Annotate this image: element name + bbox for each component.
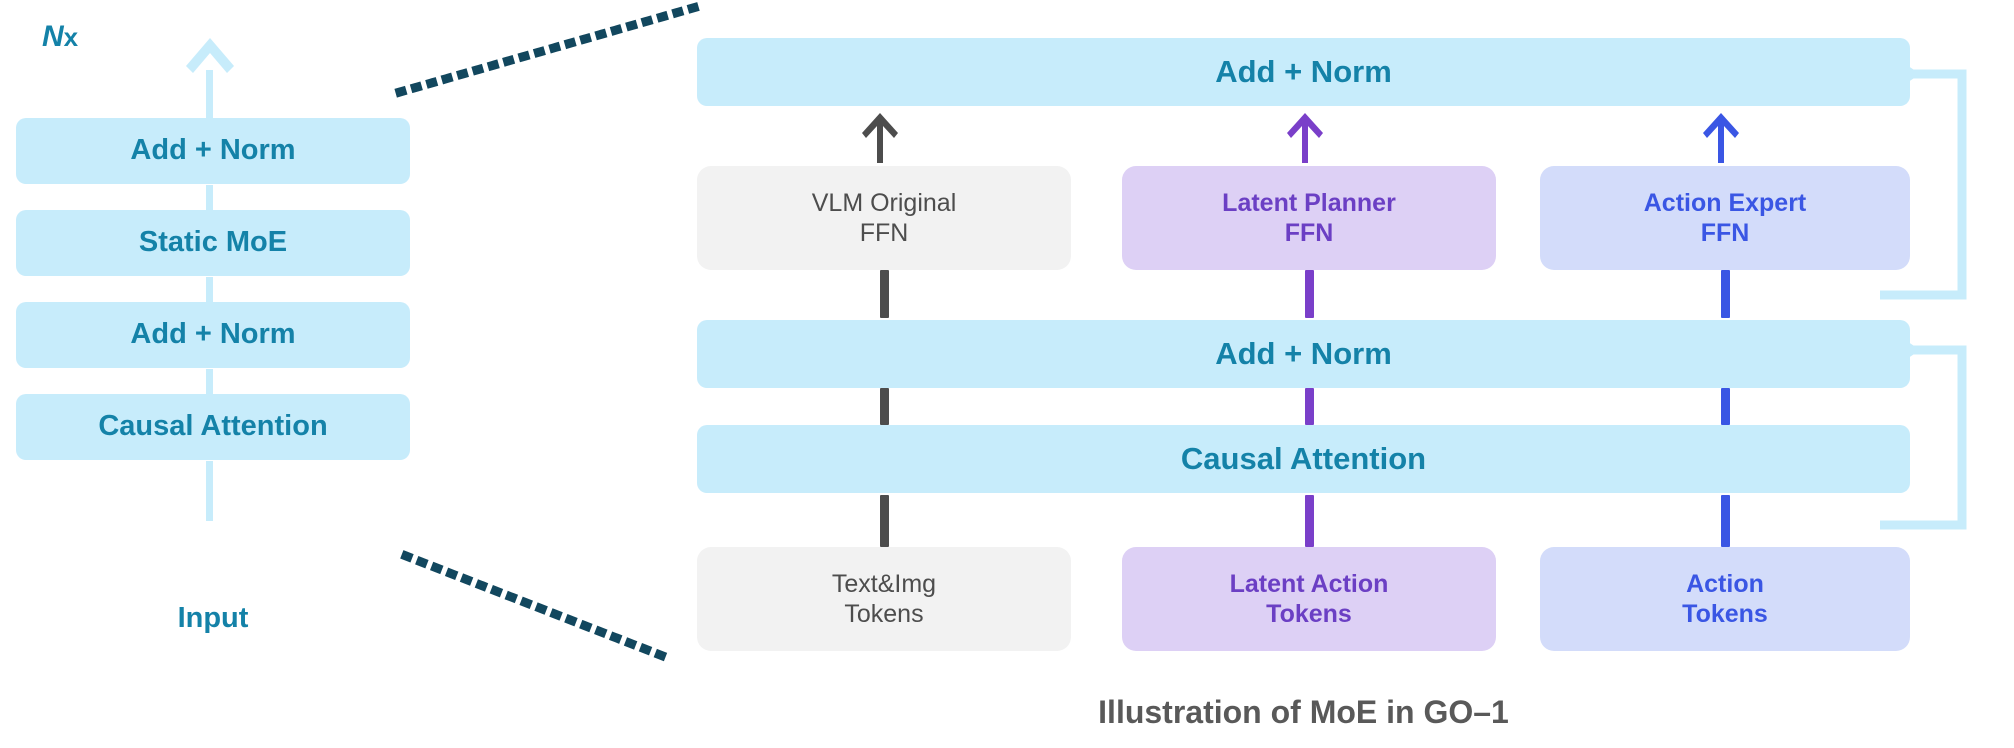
tokens-action[interactable]: Action Tokens [1540, 547, 1910, 651]
right-add-norm-top[interactable]: Add + Norm [697, 38, 1910, 106]
diagram-canvas: Nx Add + Norm Static MoE Add + Norm Caus… [0, 0, 2014, 748]
ffn-vlm-original[interactable]: VLM Original FFN [697, 166, 1071, 270]
vline-vlm-ffn-to-addnorm [880, 270, 889, 318]
vline-latent-tokens-to-attention [1305, 495, 1314, 547]
vline-vlm-addnorm-to-attention [880, 388, 889, 425]
tokens-text-img[interactable]: Text&Img Tokens [697, 547, 1071, 651]
vline-latent-ffn-to-addnorm [1305, 270, 1314, 318]
ffn-latent-planner[interactable]: Latent Planner FFN [1122, 166, 1496, 270]
vline-vlm-tokens-to-attention [880, 495, 889, 547]
right-add-norm-middle[interactable]: Add + Norm [697, 320, 1910, 388]
right-causal-attention[interactable]: Causal Attention [697, 425, 1910, 493]
arrow-vlm-ffn-to-top-addnorm [861, 113, 899, 163]
vline-latent-addnorm-to-attention [1305, 388, 1314, 425]
right-moe-detail-panel: Add + Norm VLM Original FFN Latent Plann… [0, 0, 2014, 748]
vline-action-addnorm-to-attention [1721, 388, 1730, 425]
arrow-action-ffn-to-top-addnorm [1702, 113, 1740, 163]
vline-action-ffn-to-addnorm [1721, 270, 1730, 318]
tokens-latent-action[interactable]: Latent Action Tokens [1122, 547, 1496, 651]
arrow-latent-ffn-to-top-addnorm [1286, 113, 1324, 163]
vline-action-tokens-to-attention [1721, 495, 1730, 547]
ffn-action-expert[interactable]: Action Expert FFN [1540, 166, 1910, 270]
figure-caption: Illustration of MoE in GO–1 [697, 694, 1910, 731]
